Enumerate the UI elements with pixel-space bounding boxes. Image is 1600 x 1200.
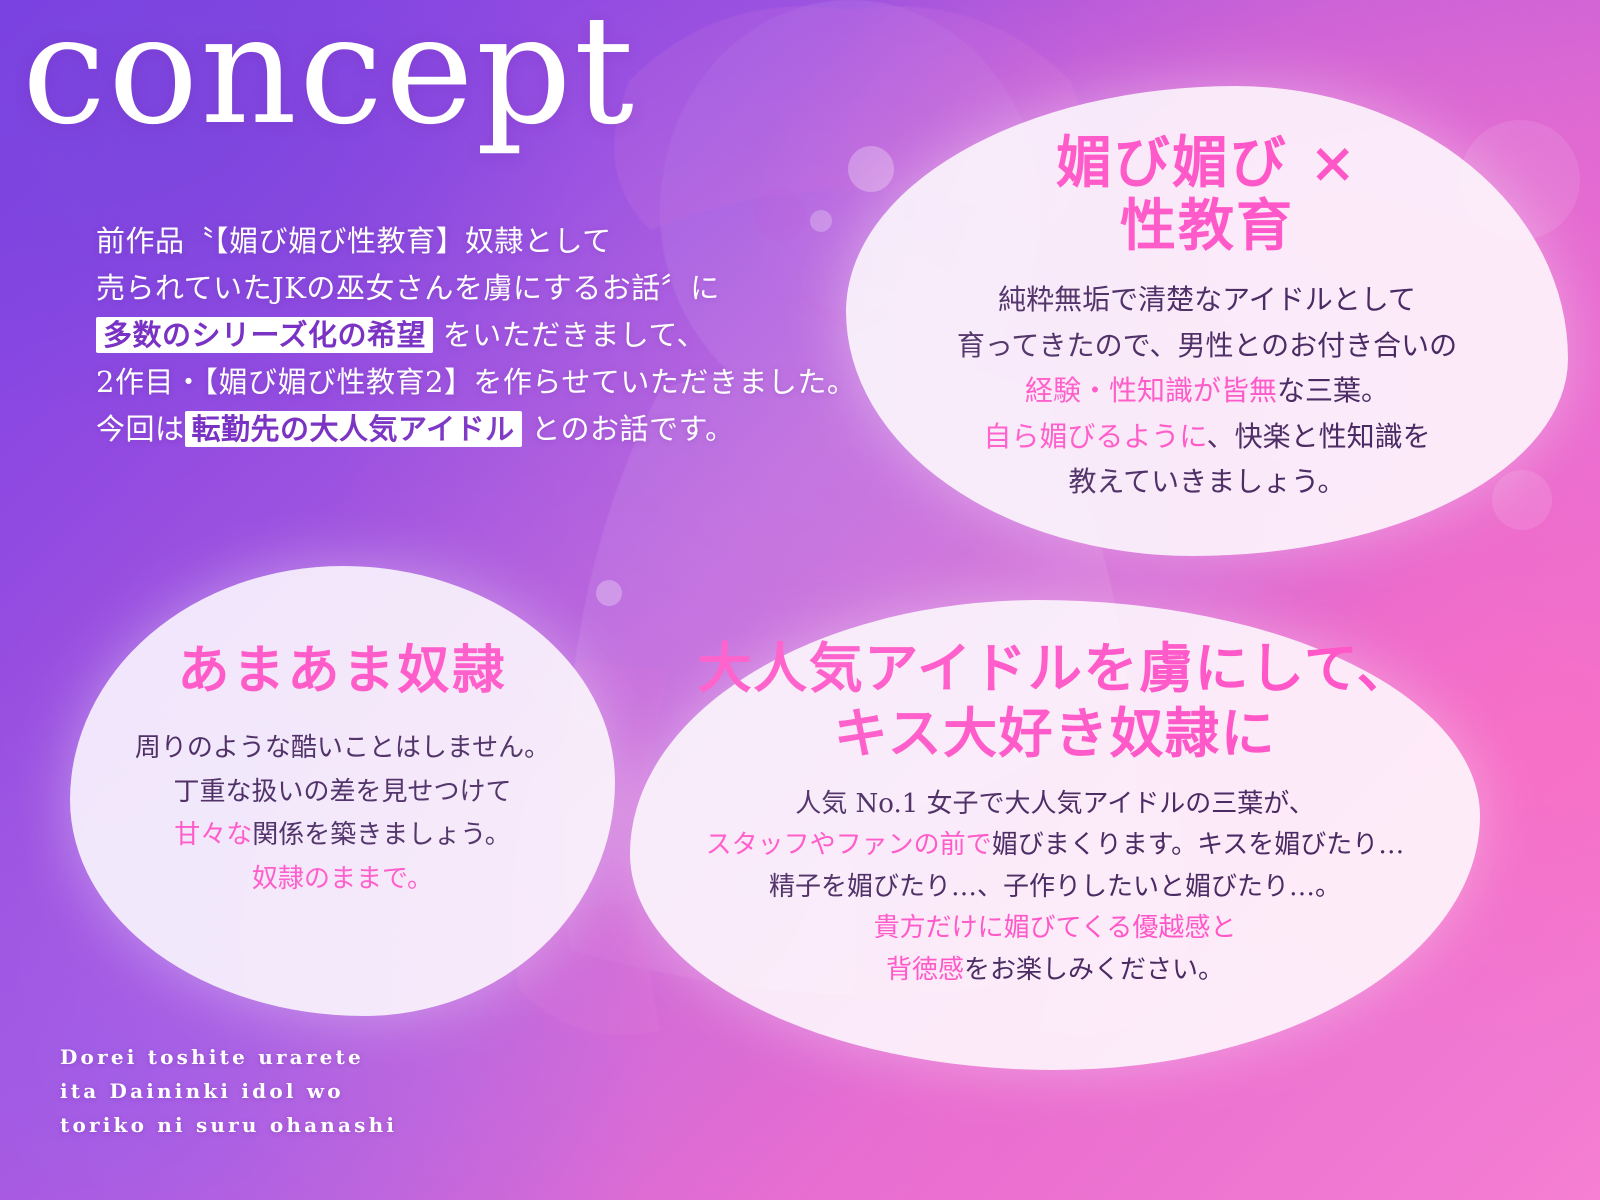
card-body-accent: 奴隷のままで。 [252,864,433,894]
concept-card-idol: 大人気アイドルを虜にして、 キス大好き奴隷に 人気 No.1 女子で大人気アイド… [630,600,1480,1070]
card-heading-line-2: 性教育 [846,195,1568,258]
card-body: 純粋無垢で清楚なアイドルとして 育ってきたので、男性とのお付き合いの 経験・性知… [846,277,1568,504]
card-heading-line-2: キス大好き奴隷に [630,701,1480,766]
highlight-series-request: 多数のシリーズ化の希望 [96,317,433,353]
romaji-line-3: toriko ni suru ohanashi [60,1108,397,1142]
card-body-line: 貴方だけに媚びてくる優越感と [630,908,1480,950]
card-body-plain: をお楽しみください。 [964,955,1224,985]
card-body-line: 人気 No.1 女子で大人気アイドルの三葉が、 [630,784,1480,826]
card-heading: 媚び媚び × 性教育 [846,132,1568,257]
card-body-line: 純粋無垢で清楚なアイドルとして [846,277,1568,322]
card-body-accent: 背徳感 [886,955,964,985]
intro-line-2: 売られていたJKの巫女さんを虜にするお話〞に [96,265,896,312]
intro-text: 前作品〝【媚び媚び性教育】奴隷として 売られていたJKの巫女さんを虜にするお話〞… [96,218,896,453]
intro-line-3-tail: をいただきまして、 [433,318,706,352]
highlight-transfer-idol: 転勤先の大人気アイドル [185,411,522,447]
card-heading: 大人気アイドルを虜にして、 キス大好き奴隷に [630,636,1480,766]
card-body-line: 教えていきましょう。 [846,459,1568,504]
card-heading-line-1: あまあま奴隷 [70,628,615,703]
card-body-line: スタッフやファンの前で媚びまくります。キスを媚びたり… [630,825,1480,867]
card-body-accent: 甘々な [174,820,252,850]
card-body-line: 周りのような酷いことはしません。 [70,727,615,771]
intro-line-5-head: 今回は [96,412,185,446]
concept-card-amaama: あまあま奴隷 周りのような酷いことはしません。 丁重な扱いの差を見せつけて 甘々… [70,566,615,1016]
card-body-plain: 関係を築きましょう。 [252,820,510,850]
intro-line-3: 多数のシリーズ化の希望 をいただきまして、 [96,312,896,359]
card-body-line: 自ら媚びるように、快楽と性知識を [846,414,1568,459]
intro-line-4: 2作目・【媚び媚び性教育2】を作らせていただきました。 [96,359,896,406]
card-heading: あまあま奴隷 [70,628,615,703]
card-body-plain: 媚びまくります。キスを媚びたり… [992,830,1405,860]
romaji-line-2: ita Daininki idol wo [60,1074,397,1108]
intro-line-5-tail: とのお話です。 [522,412,735,446]
card-body-accent: 経験・性知識が皆無 [1025,374,1277,407]
card-body-line: 精子を媚びたり…、子作りしたいと媚びたり…。 [630,867,1480,909]
card-body-line: 背徳感をお楽しみください。 [630,950,1480,992]
card-body-plain: な三葉。 [1277,374,1389,407]
card-body: 人気 No.1 女子で大人気アイドルの三葉が、 スタッフやファンの前で媚びまくり… [630,784,1480,992]
card-body-accent: 貴方だけに媚びてくる優越感と [874,913,1237,943]
page-title: concept [22,0,636,146]
intro-line-1: 前作品〝【媚び媚び性教育】奴隷として [96,218,896,265]
concept-card-kobikobi: 媚び媚び × 性教育 純粋無垢で清楚なアイドルとして 育ってきたので、男性とのお… [846,86,1568,556]
card-body-accent: 自ら媚びるように [983,420,1206,453]
concept-page: concept 前作品〝【媚び媚び性教育】奴隷として 売られていたJKの巫女さん… [0,0,1600,1200]
card-heading-line-1: 媚び媚び × [846,132,1568,195]
card-body-line: 奴隷のままで。 [70,858,615,902]
intro-line-5: 今回は転勤先の大人気アイドル とのお話です。 [96,406,896,453]
romaji-line-1: Dorei toshite urarete [60,1040,397,1074]
card-body: 周りのような酷いことはしません。 丁重な扱いの差を見せつけて 甘々な関係を築きま… [70,727,615,902]
card-body-line: 甘々な関係を築きましょう。 [70,814,615,858]
card-body-accent: スタッフやファンの前で [706,830,992,860]
card-body-line: 経験・性知識が皆無な三葉。 [846,368,1568,413]
card-heading-line-1: 大人気アイドルを虜にして、 [630,636,1480,701]
card-body-line: 丁重な扱いの差を見せつけて [70,771,615,815]
decorative-bubble [596,580,622,606]
card-body-plain: 、快楽と性知識を [1207,420,1431,453]
card-body-line: 育ってきたので、男性とのお付き合いの [846,323,1568,368]
romaji-subtitle: Dorei toshite urarete ita Daininki idol … [60,1040,397,1142]
